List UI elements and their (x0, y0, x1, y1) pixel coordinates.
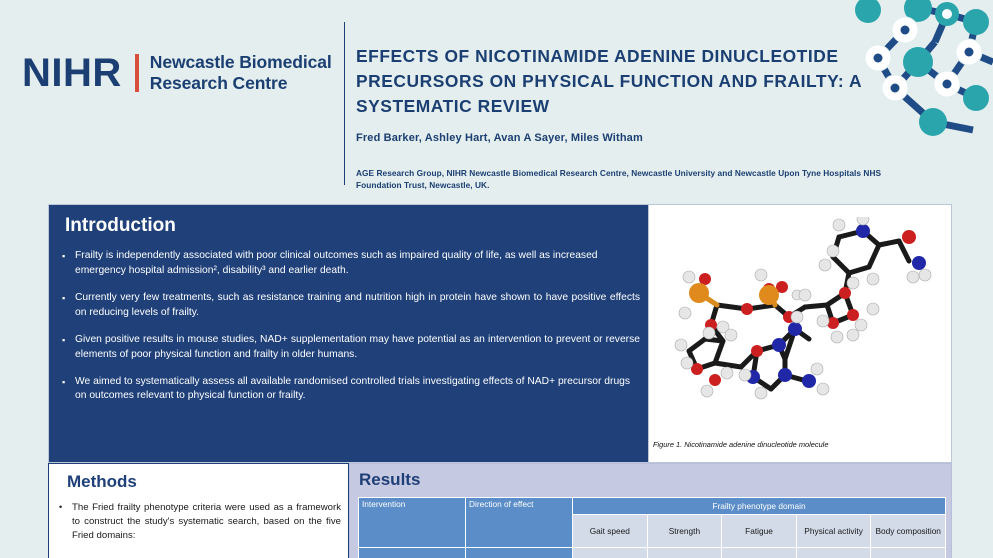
cell-body-composition (871, 548, 946, 558)
affiliation-text: AGE Research Group, NIHR Newcastle Biome… (356, 167, 884, 192)
list-item: ▪ Frailty is independently associated wi… (62, 249, 640, 279)
results-heading: Results (359, 470, 420, 490)
column-header-fatigue: Fatigue (722, 515, 797, 548)
introduction-panel: Introduction ▪ Frailty is independently … (48, 204, 649, 463)
figure-caption: Figure 1. Nicotinamide adenine dinucleot… (653, 440, 828, 449)
methods-bullet-list: • The Fried frailty phenotype criteria w… (59, 501, 341, 543)
header-vertical-divider (344, 22, 345, 185)
bullet-icon: ▪ (62, 333, 75, 363)
cell-physical-activity (796, 548, 871, 558)
logo-subtitle-line1: Newcastle Biomedical (150, 52, 332, 73)
list-item: ▪ We aimed to systematically assess all … (62, 375, 640, 405)
figure-panel: Figure 1. Nicotinamide adenine dinucleot… (649, 204, 952, 463)
introduction-bullet-text: Given positive results in mouse studies,… (75, 333, 640, 363)
methods-panel: Methods • The Fried frailty phenotype cr… (48, 463, 349, 558)
introduction-bullet-text: We aimed to systematically assess all av… (75, 375, 640, 405)
list-item: ▪ Given positive results in mouse studie… (62, 333, 640, 363)
logo-subtitle-line2: Research Centre (150, 73, 332, 94)
methods-bullet-text: The Fried frailty phenotype criteria wer… (72, 501, 341, 543)
methods-heading: Methods (67, 472, 137, 492)
bullet-icon: ▪ (62, 375, 75, 405)
list-item: ▪ Currently very few treatments, such as… (62, 291, 640, 321)
cell-intervention (359, 548, 466, 558)
logo-subtitle: Newcastle Biomedical Research Centre (150, 52, 332, 95)
logo-divider-bar (135, 54, 139, 92)
introduction-bullet-text: Frailty is independently associated with… (75, 249, 640, 279)
table-row (359, 548, 946, 558)
bullet-icon: ▪ (62, 249, 75, 279)
cell-gait-speed (573, 548, 648, 558)
column-header-gait-speed: Gait speed (573, 515, 648, 548)
poster-title: EFFECTS OF NICOTINAMIDE ADENINE DINUCLEO… (356, 44, 876, 120)
introduction-heading: Introduction (65, 215, 176, 237)
author-list: Fred Barker, Ashley Hart, Avan A Sayer, … (356, 132, 643, 144)
logo-acronym: NIHR (22, 53, 122, 93)
cell-fatigue (722, 548, 797, 558)
column-header-intervention: Intervention (359, 498, 466, 548)
nad-molecule-diagram (657, 217, 942, 432)
column-header-body-composition: Body composition (871, 515, 946, 548)
column-header-direction: Direction of effect (466, 498, 573, 548)
results-panel: Results Intervention Direction of effect… (349, 463, 952, 558)
column-group-header-frailty-domain: Frailty phenotype domain (573, 498, 946, 515)
table-header-row: Intervention Direction of effect Frailty… (359, 498, 946, 515)
column-header-physical-activity: Physical activity (796, 515, 871, 548)
bullet-icon: ▪ (62, 291, 75, 321)
molecular-network-decoration (843, 0, 993, 150)
introduction-bullet-list: ▪ Frailty is independently associated wi… (62, 249, 640, 416)
poster-header: NIHR Newcastle Biomedical Research Centr… (0, 0, 993, 197)
list-item: • The Fried frailty phenotype criteria w… (59, 501, 341, 543)
introduction-bullet-text: Currently very few treatments, such as r… (75, 291, 640, 321)
bullet-icon: • (59, 501, 72, 543)
results-table: Intervention Direction of effect Frailty… (358, 497, 946, 558)
cell-strength (647, 548, 722, 558)
column-header-strength: Strength (647, 515, 722, 548)
cell-direction (466, 548, 573, 558)
nihr-logo: NIHR Newcastle Biomedical Research Centr… (22, 52, 332, 95)
